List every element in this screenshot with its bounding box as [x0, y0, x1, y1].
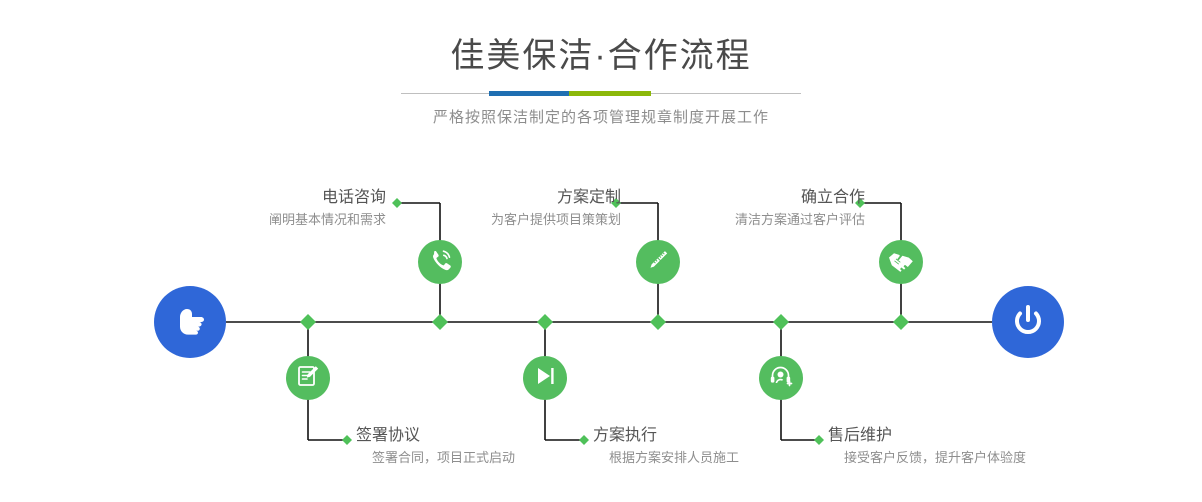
flow-node-establish-cooperation[interactable] — [879, 240, 923, 284]
flow-label-phone-consult: 电话咨询 阐明基本情况和需求 — [269, 186, 386, 230]
flow-step-title: 方案执行 — [593, 424, 739, 447]
flow-step-desc: 签署合同，项目正式启动 — [356, 449, 515, 468]
flow-step-title: 确立合作 — [735, 186, 865, 209]
flow-node-plan-execute[interactable] — [523, 356, 567, 400]
document-edit-icon — [295, 363, 321, 394]
flow-node-plan-custom[interactable] — [636, 240, 680, 284]
flow-step-title: 电话咨询 — [269, 186, 386, 209]
power-icon — [1006, 298, 1050, 347]
flow-step-title: 签署协议 — [356, 424, 515, 447]
process-flow-diagram: 电话咨询 阐明基本情况和需求 签署协议 签署合同，项目正式启动 — [0, 0, 1202, 502]
flow-label-plan-execute: 方案执行 根据方案安排人员施工 — [593, 424, 739, 468]
flow-node-phone-consult[interactable] — [418, 240, 462, 284]
flow-node-after-sales[interactable] — [759, 356, 803, 400]
flow-step-desc: 为客户提供项目策策划 — [491, 211, 621, 230]
pointing-hand-icon — [168, 298, 212, 347]
flow-label-plan-custom: 方案定制 为客户提供项目策策划 — [491, 186, 621, 230]
flow-label-establish-cooperation: 确立合作 清洁方案通过客户评估 — [735, 186, 865, 230]
flow-label-after-sales: 售后维护 接受客户反馈，提升客户体验度 — [828, 424, 1026, 468]
play-next-icon — [532, 363, 558, 394]
flow-node-sign-agreement[interactable] — [286, 356, 330, 400]
customer-support-icon — [768, 363, 794, 394]
flow-step-desc: 清洁方案通过客户评估 — [735, 211, 865, 230]
flow-end-endpoint — [992, 286, 1064, 358]
flow-step-desc: 阐明基本情况和需求 — [269, 211, 386, 230]
handshake-icon — [887, 246, 915, 279]
flow-step-desc: 接受客户反馈，提升客户体验度 — [828, 449, 1026, 468]
flow-step-title: 售后维护 — [828, 424, 1026, 447]
phone-call-icon — [426, 246, 454, 279]
flow-step-title: 方案定制 — [491, 186, 621, 209]
flow-start-endpoint — [154, 286, 226, 358]
pencil-ruler-icon — [645, 247, 671, 278]
flow-step-desc: 根据方案安排人员施工 — [593, 449, 739, 468]
flow-label-sign-agreement: 签署协议 签署合同，项目正式启动 — [356, 424, 515, 468]
